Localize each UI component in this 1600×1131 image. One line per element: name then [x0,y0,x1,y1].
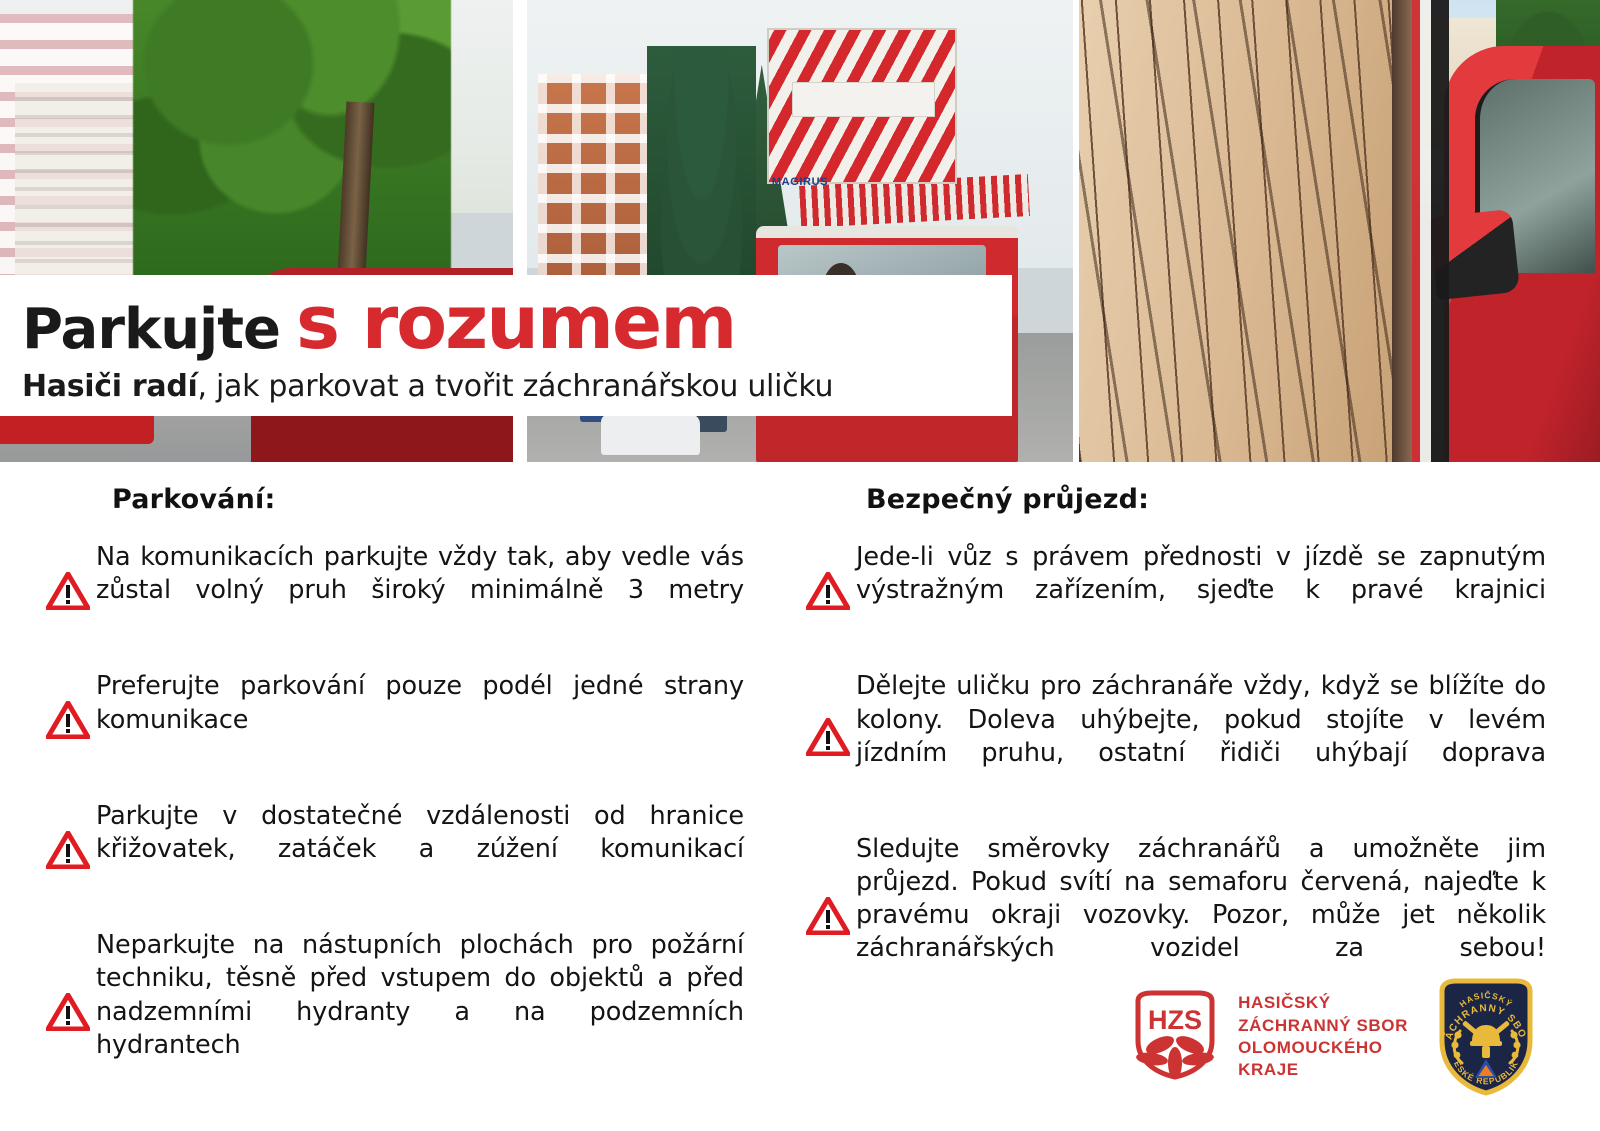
title-banner: Parkujte s rozumem Hasiči radí, jak park… [0,275,1012,416]
bullet-text: Dělejte uličku pro záchranáře vždy, když… [856,670,1546,803]
hzs-name-line-1: HASIČSKÝ [1238,992,1408,1014]
bullet-text: Jede-li vůz s právem přednosti v jízdě s… [856,541,1546,640]
bullet-text: Preferujte parkování pouze podél jedné s… [96,670,744,769]
bullet-item: Parkujte v dostatečné vzdálenosti od hra… [40,800,800,899]
hzs-name-line-2: ZÁCHRANNÝ SBOR [1238,1015,1408,1037]
subtitle-bold: Hasiči radí [22,369,198,404]
column-heading-parkovani: Parkování: [112,484,800,515]
bullet-item: Dělejte uličku pro záchranáře vždy, když… [800,670,1600,803]
headline-accent: s rozumem [296,287,735,360]
hzs-wordmark: HASIČSKÝ ZÁCHRANNÝ SBOR OLOMOUCKÉHO KRAJ… [1238,992,1408,1082]
photo-fire-engine-beside-red-car [1079,0,1600,462]
warning-triangle-icon [40,572,96,610]
warning-triangle-icon [800,897,856,935]
bullet-item: Preferujte parkování pouze podél jedné s… [40,670,800,769]
subtitle-rest: , jak parkovat a tvořit záchranářskou ul… [198,369,834,404]
warning-triangle-icon [40,993,96,1031]
headline: Parkujte s rozumem [22,287,1012,360]
bullet-item: Neparkujte na nástupních plochách pro po… [40,929,800,1095]
hzs-shield-icon: HZS [1132,989,1218,1086]
bullet-item: Na komunikacích parkujte vždy tak, aby v… [40,541,800,640]
bullet-text: Sledujte směrovky záchranářů a umožněte … [856,833,1546,999]
hzs-name-line-3: OLOMOUCKÉHO [1238,1037,1408,1059]
warning-triangle-icon [40,831,96,869]
column-parkovani: Parkování: Na komunikacích parkujte vždy… [0,470,800,1131]
bullet-text: Neparkujte na nástupních plochách pro po… [96,929,744,1095]
headline-main: Parkujte [22,303,280,358]
bullet-text: Parkujte v dostatečné vzdálenosti od hra… [96,800,744,899]
warning-triangle-icon [40,701,96,739]
bullet-text: Na komunikacích parkujte vždy tak, aby v… [96,541,744,640]
warning-triangle-icon [800,572,856,610]
hzs-name-line-4: KRAJE [1238,1059,1408,1081]
column-heading-bezpecny-prujezd: Bezpečný průjezd: [866,484,1600,515]
bullet-item: Sledujte směrovky záchranářů a umožněte … [800,833,1600,999]
logo-row: HZS HASIČSKÝ ZÁCHRANNÝ SBOR OLOMOUCKÉHO … [1132,975,1538,1099]
warning-triangle-icon [800,718,856,756]
bullet-item: Jede-li vůz s právem přednosti v jízdě s… [800,541,1600,640]
svg-text:HZS: HZS [1148,1005,1202,1035]
poster-root: MAGIRUS [0,0,1600,1131]
hzs-logo-lockup: HZS HASIČSKÝ ZÁCHRANNÝ SBOR OLOMOUCKÉHO … [1132,989,1408,1086]
hzs-cr-badge-icon: HASIČSKÝ ZÁCHRANNY SBOR ČESKÉ REPUBLIKY [1434,975,1538,1099]
subtitle: Hasiči radí, jak parkovat a tvořit záchr… [22,369,1012,404]
